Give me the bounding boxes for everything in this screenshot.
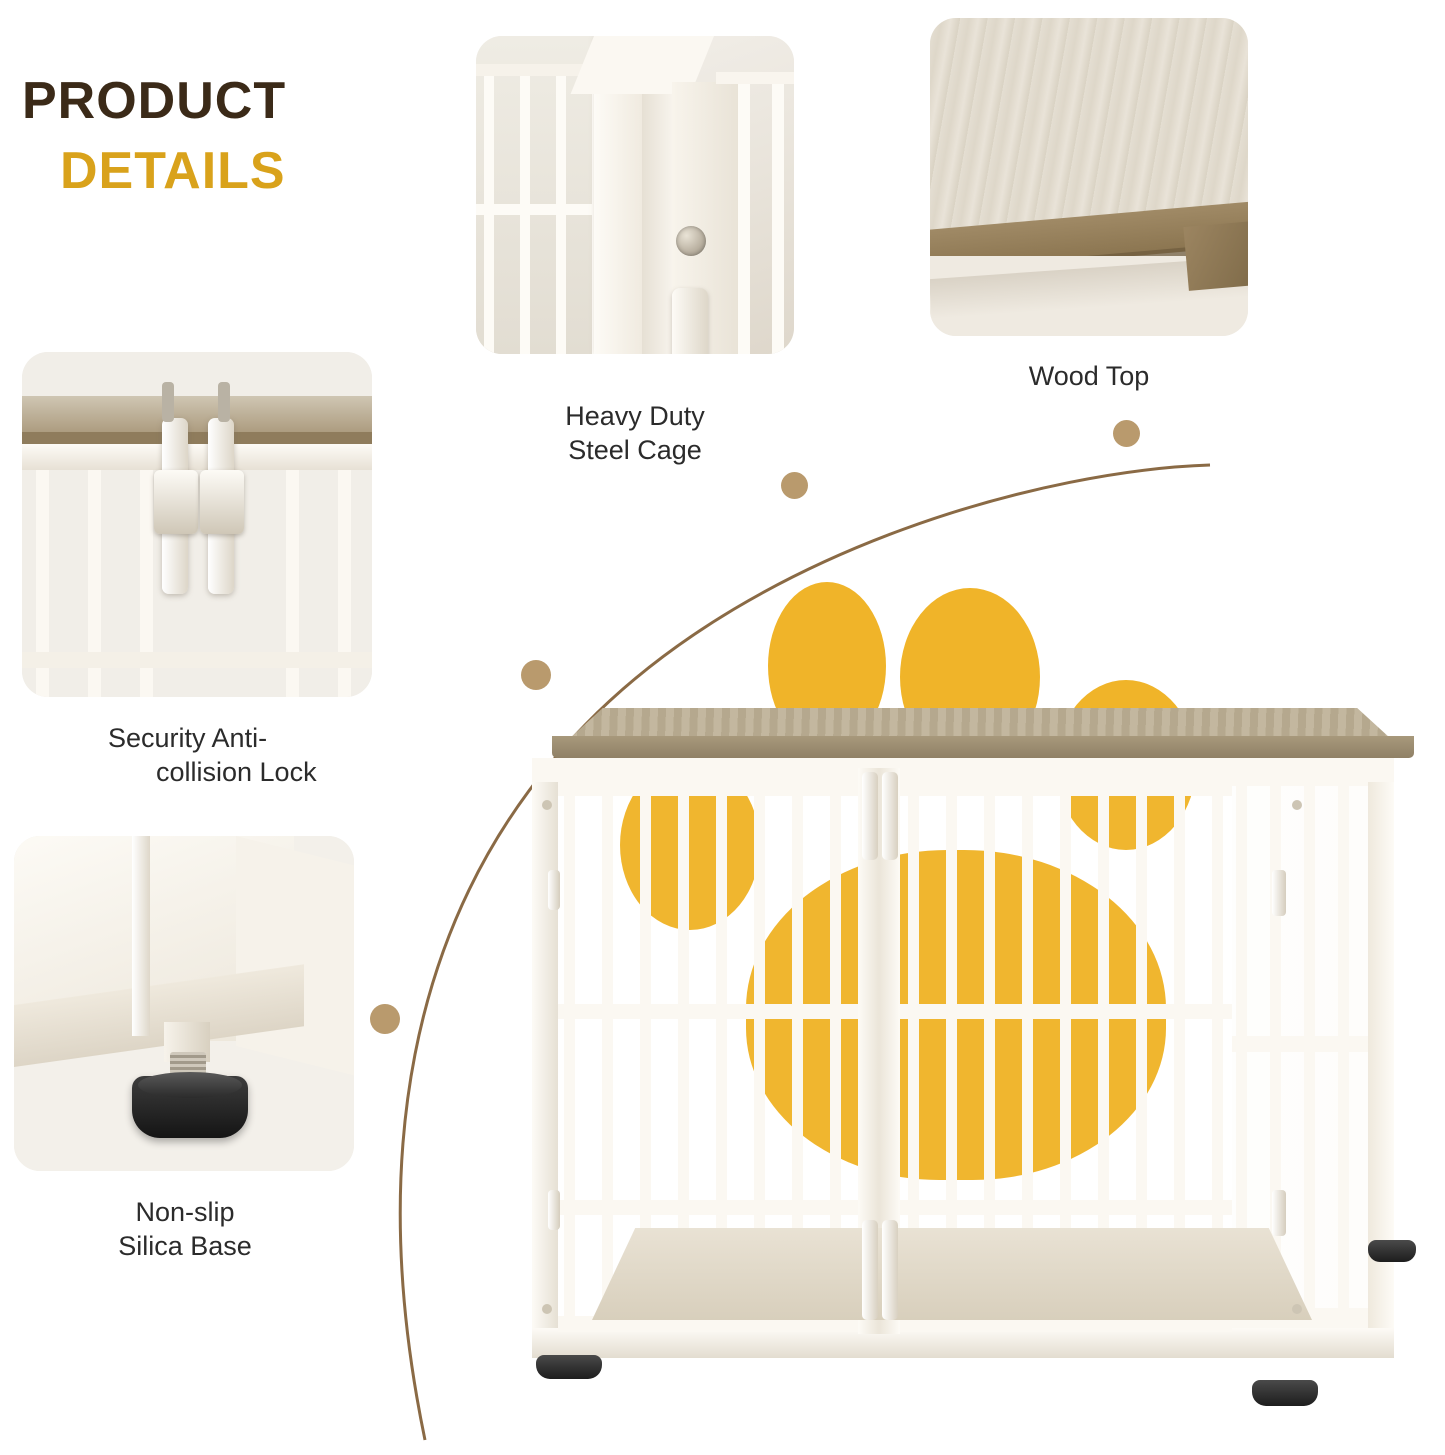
caption-wood-top-line1: Wood Top	[930, 360, 1248, 394]
screw-bottom-left	[542, 1304, 552, 1314]
crate-wood-top	[520, 708, 1430, 762]
caption-steel-cage-line1: Heavy Duty	[476, 400, 794, 434]
thumbnail-silica-base	[14, 836, 354, 1171]
crate-floor-tray	[592, 1228, 1312, 1320]
door-latch-bottom-2[interactable]	[882, 1220, 898, 1320]
connector-dot-steel-cage	[781, 472, 808, 499]
crate-body	[532, 758, 1394, 1358]
latch-icon	[672, 288, 708, 354]
door-latch-bottom[interactable]	[862, 1220, 878, 1320]
crate-foot-front-left	[536, 1355, 602, 1379]
screw-top-right	[1292, 800, 1302, 810]
connector-dot-wood-top	[1113, 420, 1140, 447]
screw-bottom-right	[1292, 1304, 1302, 1314]
caption-security-lock: Security Anti- collision Lock	[108, 722, 438, 790]
product-details-infographic: PRODUCT DETAILS Heavy Duty	[0, 0, 1445, 1448]
crate-foot-back-right	[1368, 1240, 1416, 1262]
thumbnail-steel-cage	[476, 36, 794, 354]
connector-dot-base	[370, 1004, 400, 1034]
caption-security-lock-line1: Security Anti-	[108, 722, 438, 756]
caption-silica-base-line2: Silica Base	[20, 1230, 350, 1264]
door-latch-top[interactable]	[862, 772, 878, 860]
caption-security-lock-line2: collision Lock	[156, 756, 438, 790]
crate-foot-front-right	[1252, 1380, 1318, 1406]
door-latch-top-2[interactable]	[882, 772, 898, 860]
product-illustration	[500, 560, 1430, 1420]
caption-wood-top: Wood Top	[930, 360, 1248, 394]
screw-top-left	[542, 800, 552, 810]
hinge-lower-right	[1272, 1190, 1286, 1236]
thumbnail-wood-top	[930, 18, 1248, 336]
caption-silica-base-line1: Non-slip	[20, 1196, 350, 1230]
caption-steel-cage-line2: Steel Cage	[476, 434, 794, 468]
screw-icon	[676, 226, 706, 256]
thumbnail-security-lock	[22, 352, 372, 697]
hinge-upper-left	[548, 870, 560, 910]
caption-silica-base: Non-slip Silica Base	[20, 1196, 350, 1264]
page-title-line2: DETAILS	[60, 145, 442, 197]
hinge-lower-left	[548, 1190, 560, 1230]
page-title: PRODUCT DETAILS	[22, 75, 442, 197]
page-title-line1: PRODUCT	[22, 75, 442, 127]
caption-steel-cage: Heavy Duty Steel Cage	[476, 400, 794, 468]
hinge-upper-right	[1272, 870, 1286, 916]
